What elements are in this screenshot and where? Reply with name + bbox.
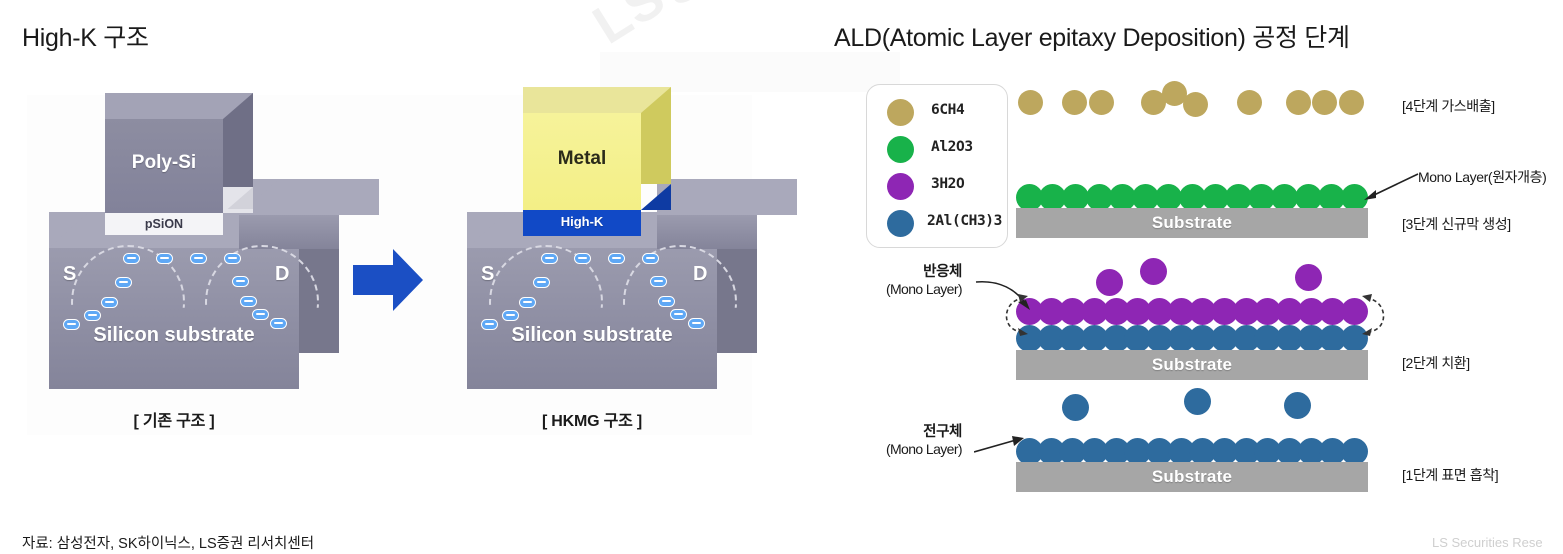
mono-layer-callout-arrow-icon xyxy=(1362,170,1422,202)
substrate-bar-stage3: Substrate xyxy=(1016,208,1368,238)
ald-process-figure: 6CH4 Al2O3 3H2O 2Al(CH3)3 xyxy=(834,62,1554,512)
electron xyxy=(519,297,536,308)
free-precursor-ball xyxy=(1184,388,1211,415)
monolayer-ball-alch33 xyxy=(1341,438,1368,465)
legend-color-swatch xyxy=(887,136,914,163)
legend-color-swatch xyxy=(887,99,914,126)
legend-color-swatch xyxy=(887,173,914,200)
gas-bubble xyxy=(1339,90,1364,115)
electron xyxy=(658,296,675,307)
legend-color-swatch xyxy=(887,210,914,237)
electron xyxy=(642,253,659,264)
step-label-1: [1단계 표면 흡착] xyxy=(1402,465,1498,485)
legend-label: 6CH4 xyxy=(931,102,964,118)
substrate-label-before: Silicon substrate xyxy=(49,324,299,347)
free-reactant-ball xyxy=(1295,264,1322,291)
substrate-step-top-after xyxy=(657,179,797,215)
free-reactant-ball xyxy=(1140,258,1167,285)
electron xyxy=(650,276,667,287)
electron xyxy=(533,277,550,288)
electron xyxy=(608,253,625,264)
electron xyxy=(502,310,519,321)
drain-label-after: D xyxy=(693,263,707,286)
high-k-structure-figure: Poly-Si pSiON S D Silicon substrate [ 기존… xyxy=(27,95,752,435)
source-label-before: S xyxy=(63,263,76,286)
callout-subtitle: (Mono Layer) xyxy=(834,441,962,457)
electron xyxy=(101,297,118,308)
legend-item-3h2o: 3H2O xyxy=(881,169,1007,203)
caption-after: [ HKMG 구조 ] xyxy=(467,407,717,431)
circulation-arrows-right-icon xyxy=(1356,290,1398,344)
legend-item-2alch33: 2Al(CH3)3 xyxy=(881,206,1007,240)
legend: 6CH4 Al2O3 3H2O 2Al(CH3)3 xyxy=(866,84,1008,248)
watermark-text: LS증권 리 xyxy=(575,0,862,85)
precursor-callout-arrow-icon xyxy=(974,434,1026,456)
circulation-arrows-left-icon xyxy=(994,290,1036,344)
substrate-step-top-before xyxy=(239,179,379,215)
left-panel-title: High-K 구조 xyxy=(22,18,149,54)
electron xyxy=(190,253,207,264)
substrate-label: Substrate xyxy=(1016,355,1368,375)
substrate-bar-stage2: Substrate xyxy=(1016,350,1368,380)
gas-bubble xyxy=(1286,90,1311,115)
legend-label: Al2O3 xyxy=(931,139,973,155)
electron xyxy=(574,253,591,264)
free-reactant-ball xyxy=(1096,269,1123,296)
electron xyxy=(123,253,140,264)
mono-layer-callout-label: Mono Layer(원자개층) xyxy=(1418,167,1546,187)
source-note: 자료: 삼성전자, SK하이닉스, LS증권 리서치센터 xyxy=(22,532,314,553)
gate-label-before: Poly-Si xyxy=(105,152,223,174)
substrate-bar-stage1: Substrate xyxy=(1016,462,1368,492)
free-precursor-ball xyxy=(1284,392,1311,419)
drain-label-before: D xyxy=(275,263,289,286)
gas-bubble xyxy=(1018,90,1043,115)
legend-item-al2o3: Al2O3 xyxy=(881,132,1007,166)
free-precursor-ball xyxy=(1062,394,1089,421)
source-label-after: S xyxy=(481,263,494,286)
step-label-4: [4단계 가스배출] xyxy=(1402,96,1495,116)
electron xyxy=(224,253,241,264)
step-label-3: [3단계 신규막 생성] xyxy=(1402,214,1511,234)
gas-bubble xyxy=(1089,90,1114,115)
callout-title: 전구체 xyxy=(923,424,962,440)
substrate-step-front-before xyxy=(239,215,339,249)
callout-title: 반응체 xyxy=(923,264,962,280)
electron xyxy=(156,253,173,264)
oxide-label-before: pSiON xyxy=(105,217,223,231)
gas-bubble xyxy=(1062,90,1087,115)
caption-before: [ 기존 구조 ] xyxy=(49,407,299,431)
electron xyxy=(84,310,101,321)
gas-bubble xyxy=(1237,90,1262,115)
electron xyxy=(670,309,687,320)
high-k-label: High-K xyxy=(523,214,641,229)
brand-note: LS Securities Rese xyxy=(1432,535,1543,550)
substrate-label: Substrate xyxy=(1016,213,1368,233)
gas-bubble xyxy=(1183,92,1208,117)
legend-label: 2Al(CH3)3 xyxy=(927,213,1002,229)
electron xyxy=(252,309,269,320)
electron xyxy=(541,253,558,264)
callout-subtitle: (Mono Layer) xyxy=(834,281,962,297)
gas-bubble xyxy=(1312,90,1337,115)
step-label-2: [2단계 치환] xyxy=(1402,353,1470,373)
callout-precursor: 전구체 (Mono Layer) xyxy=(834,420,962,457)
substrate-label: Substrate xyxy=(1016,467,1368,487)
electron xyxy=(232,276,249,287)
legend-label: 3H2O xyxy=(931,176,964,192)
substrate-step-front-after xyxy=(657,215,757,249)
callout-reactant: 반응체 (Mono Layer) xyxy=(834,260,962,297)
electron xyxy=(115,277,132,288)
right-panel-title: ALD(Atomic Layer epitaxy Deposition) 공정 … xyxy=(834,18,1350,54)
electron xyxy=(240,296,257,307)
substrate-label-after: Silicon substrate xyxy=(467,324,717,347)
right-arrow-icon xyxy=(353,247,425,313)
legend-item-6ch4: 6CH4 xyxy=(881,95,1007,129)
slide-root: LS증권 리 High-K 구조 ALD(Atomic Layer epitax… xyxy=(0,0,1563,554)
gate-label-after: Metal xyxy=(523,148,641,170)
